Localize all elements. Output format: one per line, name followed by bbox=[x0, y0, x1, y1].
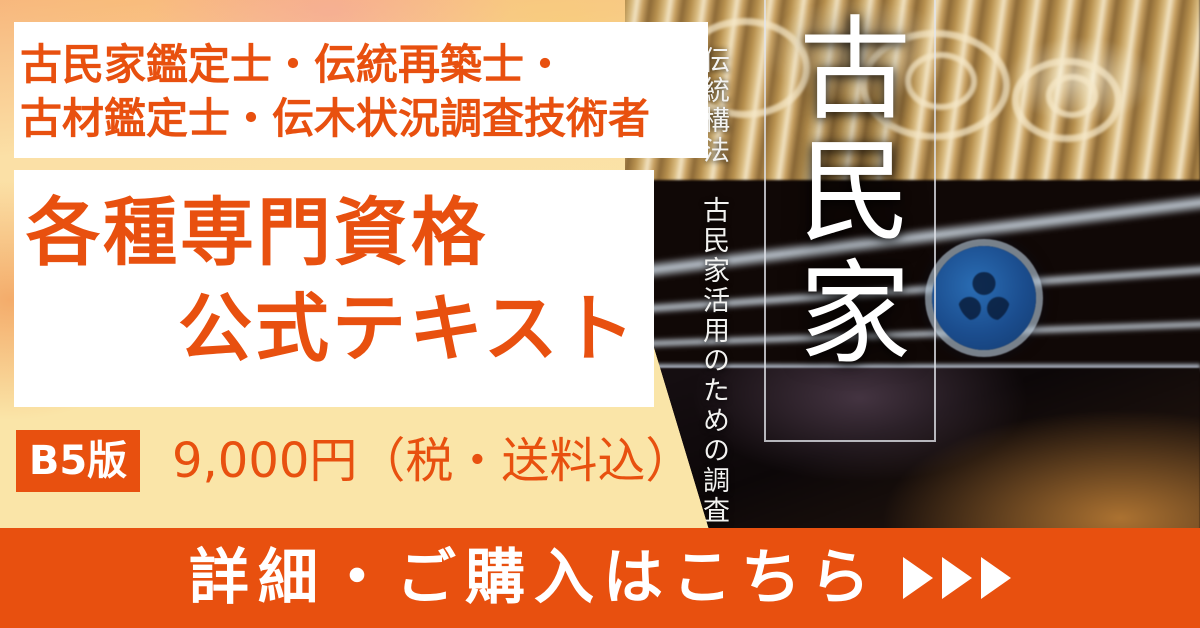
family-crest-medallion bbox=[932, 246, 1036, 350]
headline-line-1: 古民家鑑定士・伝統再築士・ bbox=[20, 44, 566, 86]
headline-line-2: 古材鑑定士・伝木状況調査技術者 bbox=[20, 98, 650, 140]
main-title-line-1: 各種専門資格 bbox=[26, 196, 488, 270]
swirl-decor-icon bbox=[1046, 74, 1098, 118]
price-text: 9,000円（税・送料込） bbox=[172, 433, 693, 491]
play-arrow-icon bbox=[942, 557, 972, 599]
format-badge-label: B5版 bbox=[29, 441, 127, 481]
cta-arrows bbox=[903, 557, 1011, 599]
cta-label: 詳細・ご購入はこちら bbox=[189, 548, 879, 608]
main-title-line-2: 公式テキスト bbox=[178, 292, 638, 366]
play-arrow-icon bbox=[903, 557, 933, 599]
format-badge: B5版 bbox=[16, 430, 140, 492]
promo-banner: 古民家 伝統構法 古民家活用のための調査と再生の 古民家鑑定士・伝統再築士・ 古… bbox=[0, 0, 1200, 628]
book-cover-title: 古民家 bbox=[784, 10, 902, 376]
play-arrow-icon bbox=[981, 557, 1011, 599]
cta-bar[interactable]: 詳細・ご購入はこちら bbox=[0, 528, 1200, 628]
